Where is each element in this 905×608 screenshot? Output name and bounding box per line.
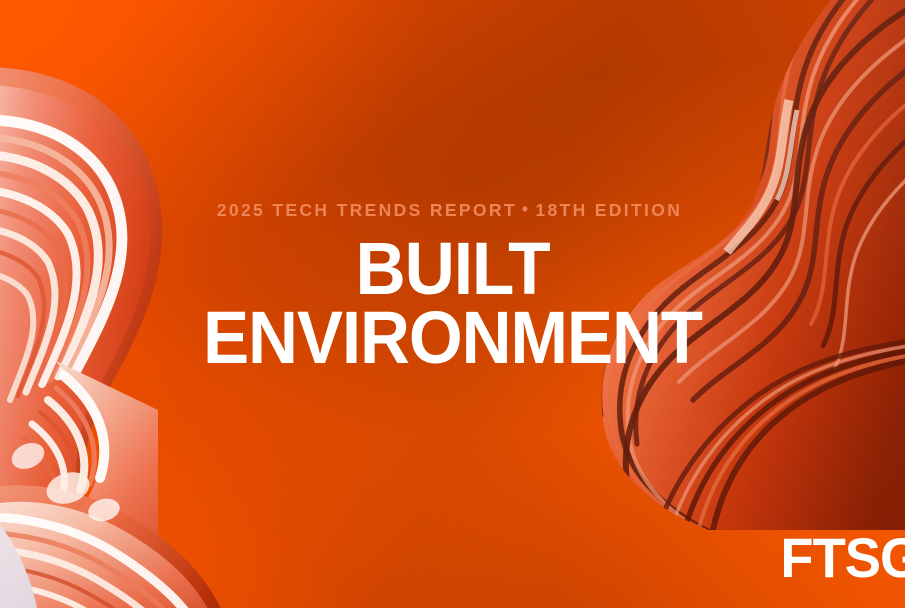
- cover-text-block: 2025 TECH TRENDS REPORT•18TH EDITION BUI…: [0, 202, 905, 370]
- report-kicker: 2025 TECH TRENDS REPORT•18TH EDITION: [0, 202, 905, 220]
- kicker-bullet-separator: •: [517, 201, 535, 219]
- kicker-suffix: 18TH EDITION: [535, 200, 682, 220]
- page-title: BUILT ENVIRONMENT: [0, 236, 905, 370]
- report-cover: 2025 TECH TRENDS REPORT•18TH EDITION BUI…: [0, 0, 905, 608]
- kicker-prefix: 2025 TECH TRENDS REPORT: [217, 200, 517, 220]
- title-line-2: ENVIRONMENT: [29, 305, 875, 370]
- ftsg-logo: FTSG: [780, 530, 905, 586]
- title-line-1: BUILT: [27, 236, 878, 301]
